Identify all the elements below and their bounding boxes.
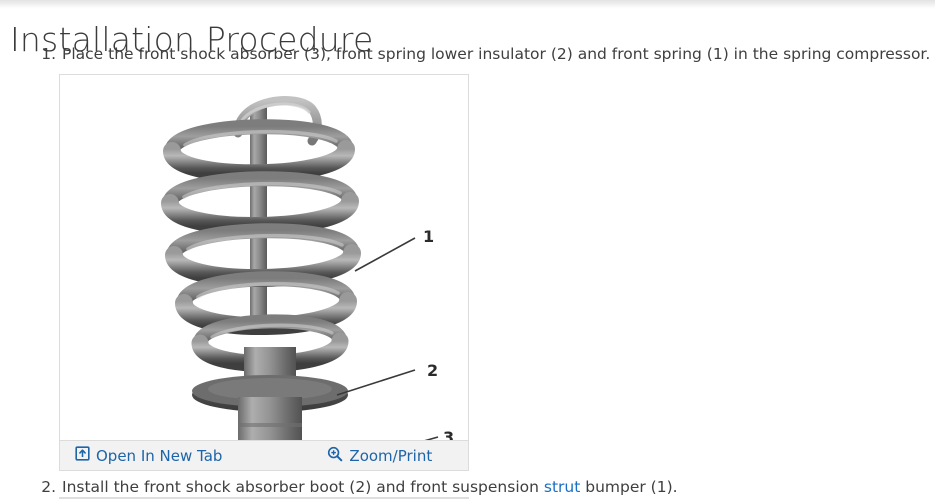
magnifier-plus-icon (327, 446, 343, 466)
callout-1-label: 1 (423, 227, 434, 246)
zoom-print-label: Zoom/Print (349, 447, 432, 465)
figure-toolbar: Open In New Tab Zoom/Print (60, 440, 468, 470)
figure-panel: 1 2 3 Open In New Tab (59, 74, 469, 471)
open-in-new-tab-link[interactable]: Open In New Tab (75, 446, 222, 465)
figure-illustration: 1 2 3 (60, 75, 468, 441)
procedure-step-1: 1.Place the front shock absorber (3), fr… (36, 45, 930, 63)
strut-link[interactable]: strut (544, 478, 580, 496)
top-gradient-band (0, 0, 935, 9)
procedure-step-2: 2.Install the front shock absorber boot … (36, 478, 678, 496)
zoom-print-link[interactable]: Zoom/Print (327, 446, 432, 466)
open-in-new-tab-label: Open In New Tab (96, 447, 222, 465)
callout-1: 1 (355, 227, 434, 271)
callout-2: 2 (337, 361, 438, 395)
step-2-number: 2. (36, 478, 56, 496)
external-link-icon (75, 446, 90, 465)
step-1-number: 1. (36, 45, 56, 63)
next-figure-top-edge (59, 497, 469, 499)
callout-2-label: 2 (427, 361, 438, 380)
step-1-text: Place the front shock absorber (3), fron… (62, 45, 930, 63)
step-2-text-before: Install the front shock absorber boot (2… (62, 478, 544, 496)
step-2-text-after: bumper (1). (580, 478, 677, 496)
